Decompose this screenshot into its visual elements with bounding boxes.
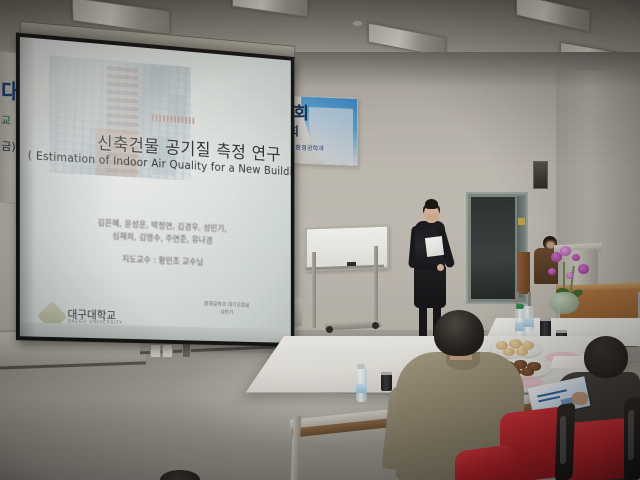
projection-screen-assembly: 신축건물 공기질 측정 연구 ( Estimation of Indoor Ai…	[10, 24, 293, 349]
presenter-hair-bun	[425, 199, 438, 209]
can-top	[556, 330, 567, 333]
can-top	[540, 318, 551, 321]
booklet-line	[538, 396, 560, 403]
wall-socket	[150, 344, 161, 358]
bottle-label	[523, 318, 534, 327]
can-top	[381, 372, 392, 375]
flower-vase	[549, 292, 579, 314]
slide-bottom-bar	[20, 322, 291, 343]
slide-advisor: 지도교수 : 황민조 교수님	[20, 248, 291, 271]
audience-front-head	[434, 310, 484, 356]
slide-footnote: 환경공학과 대기오염실 성민기	[163, 299, 289, 318]
whiteboard-caster	[372, 322, 379, 329]
whiteboard-leg	[374, 246, 378, 326]
whiteboard-marker[interactable]	[347, 262, 356, 266]
slide-authors: 김은혜, 윤성운, 박정연, 김경우, 성민기, 심재희, 김영수, 주연준, …	[20, 212, 291, 250]
presenter-hand	[437, 264, 444, 271]
orchid-flower	[560, 246, 571, 256]
booklet-line	[537, 389, 567, 397]
seat-armrest-highlight	[560, 415, 566, 464]
screen-frame: 신축건물 공기질 측정 연구 ( Estimation of Indoor Ai…	[16, 33, 294, 347]
orchid-flower	[578, 264, 589, 274]
orchid-flower	[548, 268, 556, 275]
paper-handout[interactable]	[550, 356, 588, 368]
whiteboard-caster	[326, 326, 333, 333]
orchid-flower	[566, 272, 574, 279]
open-doorway[interactable]	[471, 197, 515, 299]
collage-tile	[148, 67, 167, 98]
screen-left-shading	[20, 37, 36, 337]
bottle-label	[356, 384, 367, 393]
bread-roll	[503, 348, 515, 356]
presenter-face	[426, 210, 438, 219]
beverage-can[interactable]	[540, 318, 551, 337]
bread-roll	[516, 348, 528, 356]
wall-socket	[162, 344, 173, 358]
water-bottle[interactable]	[523, 306, 534, 332]
host-chair	[518, 252, 530, 294]
screen-surface: 신축건물 공기질 측정 연구 ( Estimation of Indoor Ai…	[20, 37, 291, 343]
door-hinge-icon	[518, 218, 525, 225]
audience-right-head	[584, 336, 628, 378]
orchid-flower	[572, 254, 580, 261]
presenter-skirt	[414, 266, 446, 308]
audience-right-hand	[572, 392, 588, 405]
collage-micro-text	[152, 114, 194, 124]
ceiling-sensor-icon	[352, 20, 363, 27]
seat-armrest-highlight	[628, 410, 634, 461]
bottle-cap	[357, 364, 365, 369]
presenter-papers[interactable]	[425, 236, 444, 257]
photo-scene: 대 교 . (금) 발표회 표회 대구대학교 환경공학과	[0, 0, 640, 480]
beverage-can[interactable]	[381, 372, 392, 391]
whiteboard-leg	[312, 252, 316, 328]
meat-piece	[521, 368, 534, 376]
water-bottle[interactable]	[356, 368, 367, 402]
wall-speaker	[533, 161, 548, 189]
